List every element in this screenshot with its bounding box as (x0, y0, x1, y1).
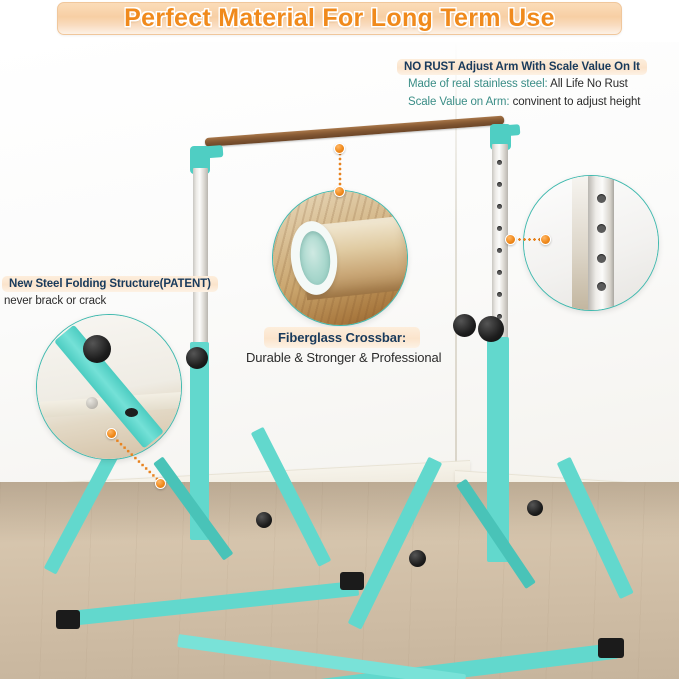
folding-structure-sub-text: never brack or crack (4, 295, 106, 307)
arm-hole (497, 292, 502, 297)
right-scale-knob (453, 314, 476, 337)
adjust-arm-tag-label: NO RUST Adjust Arm With Scale Value On I… (404, 61, 640, 73)
crossbar-sub: Durable & Stronger & Professional (246, 350, 441, 365)
right-height-knob (478, 316, 504, 342)
adjust-arm-line1: Made of real stainless steel: All Life N… (408, 78, 628, 90)
crossbar-tag-label: Fiberglass Crossbar: (278, 330, 406, 345)
arm-hole (497, 226, 502, 231)
header-banner: Perfect Material For Long Term Use (57, 2, 622, 35)
crossbar-sub-text: Durable & Stronger & Professional (246, 350, 441, 365)
left-base-cap-front (56, 610, 80, 629)
right-brace-knob-lower (409, 550, 426, 567)
adjust-arm-line2: Scale Value on Arm: convinent to adjust … (408, 96, 640, 108)
arm-hole (497, 160, 502, 165)
closeup-arm-hole (597, 224, 606, 233)
arm-hole (497, 182, 502, 187)
crossbar-tag: Fiberglass Crossbar: (264, 327, 420, 348)
adjust-arm-line1-label: Made of real stainless steel: (408, 78, 548, 90)
closeup-arm-hole (597, 282, 606, 291)
folding-structure-sub: never brack or crack (4, 295, 106, 307)
connector-dot-folding-bottom (155, 478, 166, 489)
crossbar-detail-circle (272, 190, 408, 326)
connector-dot-crossbar-bottom (334, 186, 345, 197)
folding-structure-tag: New Steel Folding Structure(PATENT) (2, 276, 218, 292)
arm-hole (497, 270, 502, 275)
left-adjust-arm (193, 168, 208, 352)
folding-structure-tag-label: New Steel Folding Structure(PATENT) (9, 278, 211, 290)
closeup-arm-hole (597, 254, 606, 263)
arm-hole (497, 248, 502, 253)
infographic-root: Perfect Material For Long Term Use (0, 0, 679, 679)
connector-dot-folding-top (106, 428, 117, 439)
adjust-arm-line2-value: convinent to adjust height (513, 96, 641, 108)
banner-title: Perfect Material For Long Term Use (124, 4, 555, 33)
closeup-folding-knob (83, 335, 111, 363)
adjust-arm-tag: NO RUST Adjust Arm With Scale Value On I… (397, 59, 647, 75)
left-height-knob (186, 347, 208, 369)
adjust-arm-line1-value: All Life No Rust (550, 78, 628, 90)
connector-dot-arm-right (540, 234, 551, 245)
left-brace-knob (256, 512, 272, 528)
connector-dot-crossbar-top (334, 143, 345, 154)
adjust-arm-line2-label: Scale Value on Arm: (408, 96, 509, 108)
arm-hole (497, 204, 502, 209)
closeup-hinge-hole (125, 408, 138, 417)
left-base-cap-rear (340, 572, 364, 590)
right-brace-knob-upper (527, 500, 543, 516)
wall-corner-edge (455, 42, 457, 502)
closeup-arm-hole (597, 194, 606, 203)
connector-dot-arm-left (505, 234, 516, 245)
right-base-cap-rear (598, 638, 624, 658)
closeup-hinge-bolt (86, 397, 98, 409)
